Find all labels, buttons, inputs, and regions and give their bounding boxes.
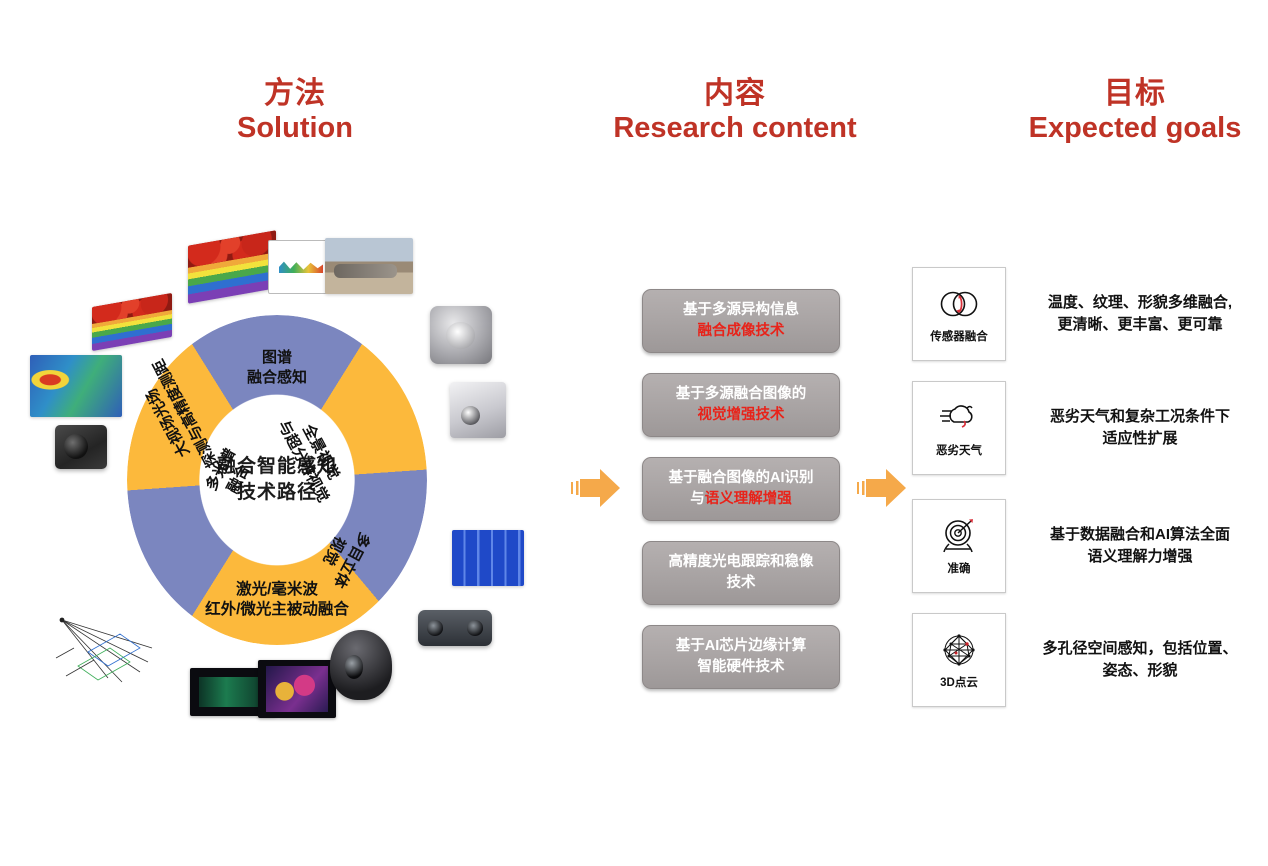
spectral-curve-chart-thumbnail [268, 240, 330, 294]
goal-row-bad-weather: 恶劣天气 恶劣天气和复杂工况条件下 适应性扩展 [912, 382, 1268, 474]
false-color-fusion-thumbnail [258, 660, 336, 718]
process-box-visual-enhancement[interactable]: 基于多源融合图像的 视觉增强技术 [642, 373, 840, 437]
hyperspectral-cube-thumbnail [188, 230, 276, 304]
process-box-2-line-1: 基于融合图像的AI识别 [669, 468, 814, 489]
process-box-0-line-1: 基于多源异构信息 [683, 300, 799, 321]
fusion-technology-wheel: 融合智能感知 技术路径 图谱 融合感知 全景视觉 与超分辨视觉 多目立体 视觉 … [122, 300, 432, 660]
process-box-4-line-2: 智能硬件技术 [676, 657, 807, 678]
wheel-segment-top-line-2: 融合感知 [167, 368, 387, 388]
goal-card-label-1: 恶劣天气 [936, 442, 982, 458]
goal-text-1-line-2: 适应性扩展 [1012, 428, 1268, 450]
goal-text-2: 基于数据融合和AI算法全面 语义理解力增强 [1006, 524, 1268, 568]
industrial-scanner-thumbnail [450, 382, 506, 438]
sensor-fusion-icon [935, 284, 983, 324]
point-cloud-icon [935, 630, 983, 670]
goal-text-3-line-2: 姿态、形貌 [1012, 660, 1268, 682]
process-box-ai-recognition-semantic[interactable]: 基于融合图像的AI识别 与语义理解增强 [642, 457, 840, 521]
target-accuracy-icon [935, 516, 983, 556]
process-box-ai-chip-edge-computing[interactable]: 基于AI芯片边缘计算 智能硬件技术 [642, 625, 840, 689]
goal-text-2-line-1: 基于数据融合和AI算法全面 [1012, 524, 1268, 546]
process-box-1-line-1: 基于多源融合图像的 [676, 384, 807, 405]
column-header-solution: 方法 Solution [160, 76, 430, 146]
goal-text-0-line-2: 更清晰、更丰富、更可靠 [1012, 314, 1268, 336]
goal-text-0: 温度、纹理、形貌多维融合, 更清晰、更丰富、更可靠 [1006, 292, 1268, 336]
goal-text-1: 恶劣天气和复杂工况条件下 适应性扩展 [1006, 406, 1268, 450]
goal-card-accuracy[interactable]: 准确 [912, 499, 1006, 593]
goal-row-accuracy: 准确 基于数据融合和AI算法全面 语义理解力增强 [912, 500, 1268, 592]
goal-card-label-0: 传感器融合 [930, 328, 988, 344]
pipeline-inspection-photo-thumbnail [325, 238, 413, 294]
process-box-0-line-2: 融合成像技术 [683, 321, 799, 342]
wheel-segment-top-line-1: 图谱 [167, 348, 387, 368]
blue-structured-light-thumbnail [452, 530, 524, 586]
goal-card-label-3: 3D点云 [940, 674, 978, 690]
goal-text-0-line-1: 温度、纹理、形貌多维融合, [1012, 292, 1268, 314]
wheel-segment-bottom-line-1: 激光/毫米波 [147, 580, 407, 600]
goal-text-2-line-2: 语义理解力增强 [1012, 546, 1268, 568]
column-header-research-cn: 内容 [600, 76, 870, 111]
column-header-solution-en: Solution [160, 111, 430, 145]
process-box-1-line-2: 视觉增强技术 [676, 405, 807, 426]
process-box-3-line-1: 高精度光电跟踪和稳像 [669, 552, 814, 573]
column-header-expected-goals: 目标 Expected goals [1000, 76, 1268, 146]
goal-card-label-2: 准确 [948, 560, 971, 576]
process-box-2-line-2-prefix: 与 [690, 491, 705, 507]
goal-text-3: 多孔径空间感知，包括位置、 姿态、形貌 [1006, 638, 1268, 682]
goal-text-1-line-1: 恶劣天气和复杂工况条件下 [1012, 406, 1268, 428]
wheel-segment-bottom-line-2: 红外/微光主被动融合 [147, 600, 407, 620]
thermal-imaging-thumbnail [30, 355, 122, 417]
process-box-4-line-1: 基于AI芯片边缘计算 [676, 636, 807, 657]
arrow-solution-to-content [570, 460, 626, 521]
goal-card-bad-weather[interactable]: 恶劣天气 [912, 381, 1006, 475]
arrow-content-to-goals [856, 460, 912, 521]
goal-card-sensor-fusion[interactable]: 传感器融合 [912, 267, 1006, 361]
process-box-2-line-2: 语义理解增强 [705, 491, 792, 507]
column-header-goals-en: Expected goals [1000, 111, 1268, 145]
goal-text-3-line-1: 多孔径空间感知，包括位置、 [1012, 638, 1268, 660]
arrow-right-icon-2 [856, 460, 912, 516]
goal-row-point-cloud: 3D点云 多孔径空间感知，包括位置、 姿态、形貌 [912, 614, 1268, 706]
infrared-camera-thumbnail [55, 425, 107, 469]
wheel-segment-spectral-fusion-sensing[interactable]: 图谱 融合感知 [167, 348, 387, 387]
diagram-canvas: 方法 Solution 内容 Research content 目标 Expec… [0, 0, 1268, 866]
column-header-solution-cn: 方法 [160, 76, 430, 111]
column-header-goals-cn: 目标 [1000, 76, 1268, 111]
process-box-fusion-imaging[interactable]: 基于多源异构信息 融合成像技术 [642, 289, 840, 353]
process-box-3-line-2: 技术 [669, 573, 814, 594]
goal-card-point-cloud[interactable]: 3D点云 [912, 613, 1006, 707]
column-header-research-content: 内容 Research content [600, 76, 870, 146]
goal-row-sensor-fusion: 传感器融合 温度、纹理、形貌多维融合, 更清晰、更丰富、更可靠 [912, 268, 1268, 360]
wheel-segment-laser-mmwave-infrared-fusion[interactable]: 激光/毫米波 红外/微光主被动融合 [147, 580, 407, 620]
bad-weather-icon [935, 398, 983, 438]
arrow-right-icon [570, 460, 626, 516]
panoramic-camera-rig-thumbnail [430, 306, 492, 364]
process-box-tracking-stabilization[interactable]: 高精度光电跟踪和稳像 技术 [642, 541, 840, 605]
column-header-research-en: Research content [600, 111, 870, 145]
